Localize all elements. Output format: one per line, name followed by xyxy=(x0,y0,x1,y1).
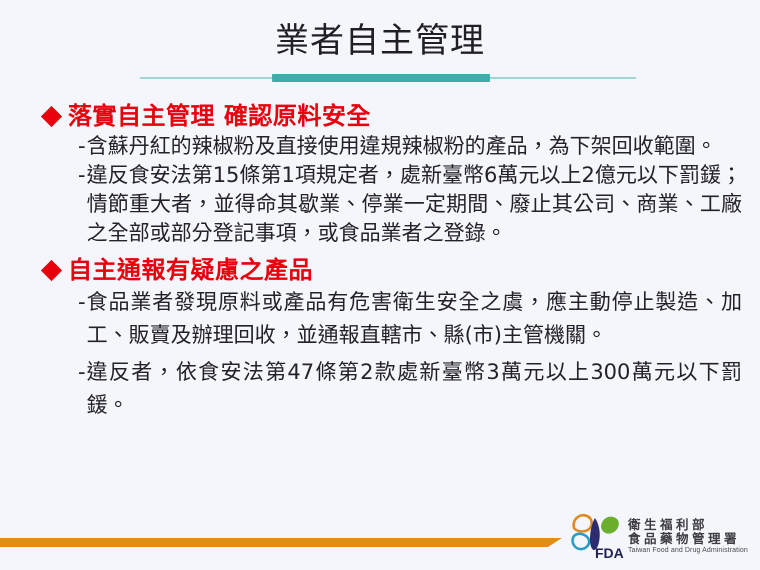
slide-content: 落實自主管理 確認原料安全 - 含蘇丹紅的辣椒粉及直接使用違規辣椒粉的產品，為下… xyxy=(0,100,760,422)
list-item-text: 違反者，依食安法第47條第2款處新臺幣3萬元以上300萬元以下罰鍰。 xyxy=(87,356,742,422)
bullet-list: - 含蘇丹紅的辣椒粉及直接使用違規辣椒粉的產品，為下架回收範圍。 - 違反食安法… xyxy=(0,132,760,248)
diamond-bullet-icon xyxy=(41,106,62,127)
footer-orange-bar xyxy=(0,538,562,547)
bullet-list: - 食品業者發現原料或產品有危害衛生安全之虞，應主動停止製造、加工、販賣及辦理回… xyxy=(0,286,760,422)
page-title: 業者自主管理 xyxy=(0,18,760,64)
dash-marker: - xyxy=(78,132,86,161)
fda-logo: FDA 衛生福利部 食品藥物管理署 Taiwan Food and Drug A… xyxy=(568,510,760,562)
fda-logo-line2: 食品藥物管理署 xyxy=(628,532,760,546)
fda-logo-text: 衛生福利部 食品藥物管理署 Taiwan Food and Drug Admin… xyxy=(628,518,760,555)
list-item: - 食品業者發現原料或產品有危害衛生安全之虞，應主動停止製造、加工、販賣及辦理回… xyxy=(0,286,760,352)
title-divider xyxy=(140,74,636,82)
fda-logo-line-en: Taiwan Food and Drug Administration xyxy=(628,546,760,555)
list-item-text: 含蘇丹紅的辣椒粉及直接使用違規辣椒粉的產品，為下架回收範圍。 xyxy=(87,132,742,161)
section-heading-text: 落實自主管理 確認原料安全 xyxy=(68,100,371,132)
section-self-management: 落實自主管理 確認原料安全 - 含蘇丹紅的辣椒粉及直接使用違規辣椒粉的產品，為下… xyxy=(0,100,760,248)
section-heading: 落實自主管理 確認原料安全 xyxy=(0,100,760,132)
diamond-bullet-icon xyxy=(41,260,62,281)
slide-canvas: 業者自主管理 落實自主管理 確認原料安全 - 含蘇丹紅的辣椒粉及直接使用違規辣椒… xyxy=(0,0,760,570)
list-item: - 違反者，依食安法第47條第2款處新臺幣3萬元以上300萬元以下罰鍰。 xyxy=(0,356,760,422)
section-heading-text: 自主通報有疑慮之產品 xyxy=(68,254,313,286)
title-block: 業者自主管理 xyxy=(0,18,760,64)
divider-thick-bar xyxy=(272,74,490,82)
list-item: - 違反食安法第15條第1項規定者，處新臺幣6萬元以上2億元以下罰鍰；情節重大者… xyxy=(0,161,760,248)
section-heading: 自主通報有疑慮之產品 xyxy=(0,254,760,286)
dash-marker: - xyxy=(78,286,86,319)
section-voluntary-reporting: 自主通報有疑慮之產品 - 食品業者發現原料或產品有危害衛生安全之虞，應主動停止製… xyxy=(0,254,760,422)
list-item: - 含蘇丹紅的辣椒粉及直接使用違規辣椒粉的產品，為下架回收範圍。 xyxy=(0,132,760,161)
fda-logo-line1: 衛生福利部 xyxy=(628,518,760,532)
fda-butterfly-icon: FDA xyxy=(568,512,626,560)
svg-text:FDA: FDA xyxy=(595,545,624,560)
list-item-text: 食品業者發現原料或產品有危害衛生安全之虞，應主動停止製造、加工、販賣及辦理回收，… xyxy=(87,286,742,352)
list-item-text: 違反食安法第15條第1項規定者，處新臺幣6萬元以上2億元以下罰鍰；情節重大者，並… xyxy=(87,161,742,248)
dash-marker: - xyxy=(78,161,86,190)
dash-marker: - xyxy=(78,356,86,389)
